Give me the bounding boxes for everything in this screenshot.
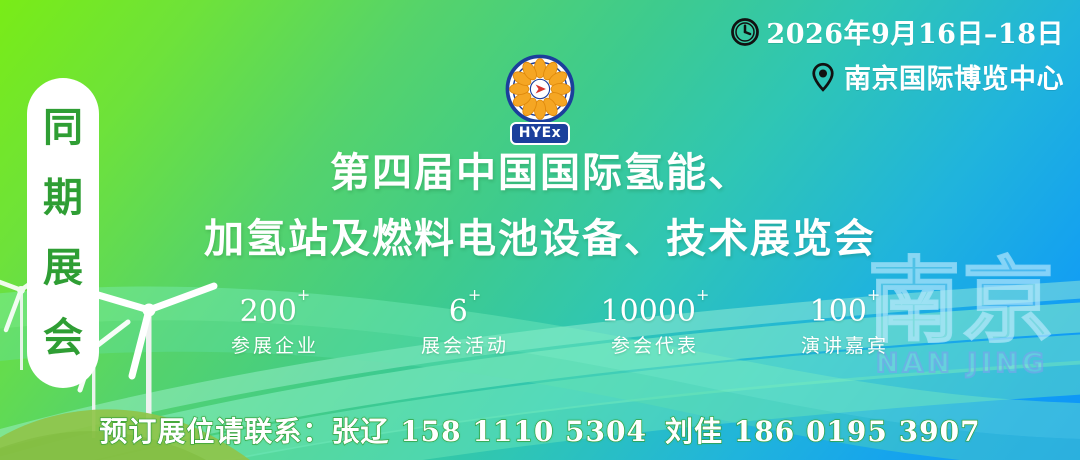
- stat-item: 100+ 演讲嘉宾: [790, 296, 900, 358]
- stat-number: 6+: [410, 296, 520, 328]
- event-title: 第四届中国国际氢能、 加氢站及燃料电池设备、技术展览会: [0, 140, 1080, 272]
- stat-label: 展会活动: [410, 331, 520, 358]
- stat-plus: +: [468, 285, 481, 304]
- contact-prefix: 预订展位请联系：: [99, 415, 331, 448]
- side-badge-char-4: 会: [43, 318, 83, 358]
- stat-plus: +: [696, 285, 709, 304]
- stat-value: 10000: [601, 294, 696, 329]
- stat-label: 参展企业: [220, 331, 330, 358]
- contact-line: 预订展位请联系：张辽 158 1110 5304刘佳 186 0195 3907: [0, 410, 1080, 450]
- contact-1-name: 张辽: [331, 415, 389, 448]
- exhibition-banner: 南京 NAN JING 同 期 展 会 2026年9月16日–18日: [0, 0, 1080, 460]
- stat-number: 100+: [790, 296, 900, 328]
- stat-plus: +: [297, 285, 310, 304]
- event-venue: 南京国际博览中心: [844, 57, 1064, 96]
- stat-label: 参会代表: [600, 331, 710, 358]
- stat-item: 10000+ 参会代表: [600, 296, 710, 358]
- event-date: 2026年9月16日–18日: [766, 12, 1064, 51]
- event-logo: HYEx: [495, 52, 585, 145]
- event-meta: 2026年9月16日–18日 南京国际博览中心: [730, 12, 1064, 102]
- stat-value: 6: [449, 294, 468, 329]
- stat-number: 200+: [220, 296, 330, 328]
- event-venue-row: 南京国际博览中心: [730, 57, 1064, 96]
- stat-item: 6+ 展会活动: [410, 296, 520, 358]
- clock-icon: [730, 17, 760, 47]
- contact-2-phone: 186 0195 3907: [734, 415, 981, 448]
- map-pin-icon: [808, 62, 838, 92]
- stat-value: 200: [240, 294, 297, 329]
- title-line-1: 第四届中国国际氢能、: [0, 140, 1080, 206]
- stat-item: 200+ 参展企业: [220, 296, 330, 358]
- event-date-row: 2026年9月16日–18日: [730, 12, 1064, 51]
- stats-row: 200+ 参展企业 6+ 展会活动 10000+ 参会代表 100+ 演讲嘉宾: [220, 296, 900, 358]
- hyex-emblem-icon: [503, 52, 577, 126]
- stat-value: 100: [810, 294, 867, 329]
- title-line-2: 加氢站及燃料电池设备、技术展览会: [0, 206, 1080, 272]
- stat-plus: +: [867, 285, 880, 304]
- stat-label: 演讲嘉宾: [790, 331, 900, 358]
- stat-number: 10000+: [600, 296, 710, 328]
- contact-1-phone: 158 1110 5304: [400, 415, 647, 448]
- contact-2-name: 刘佳: [665, 415, 723, 448]
